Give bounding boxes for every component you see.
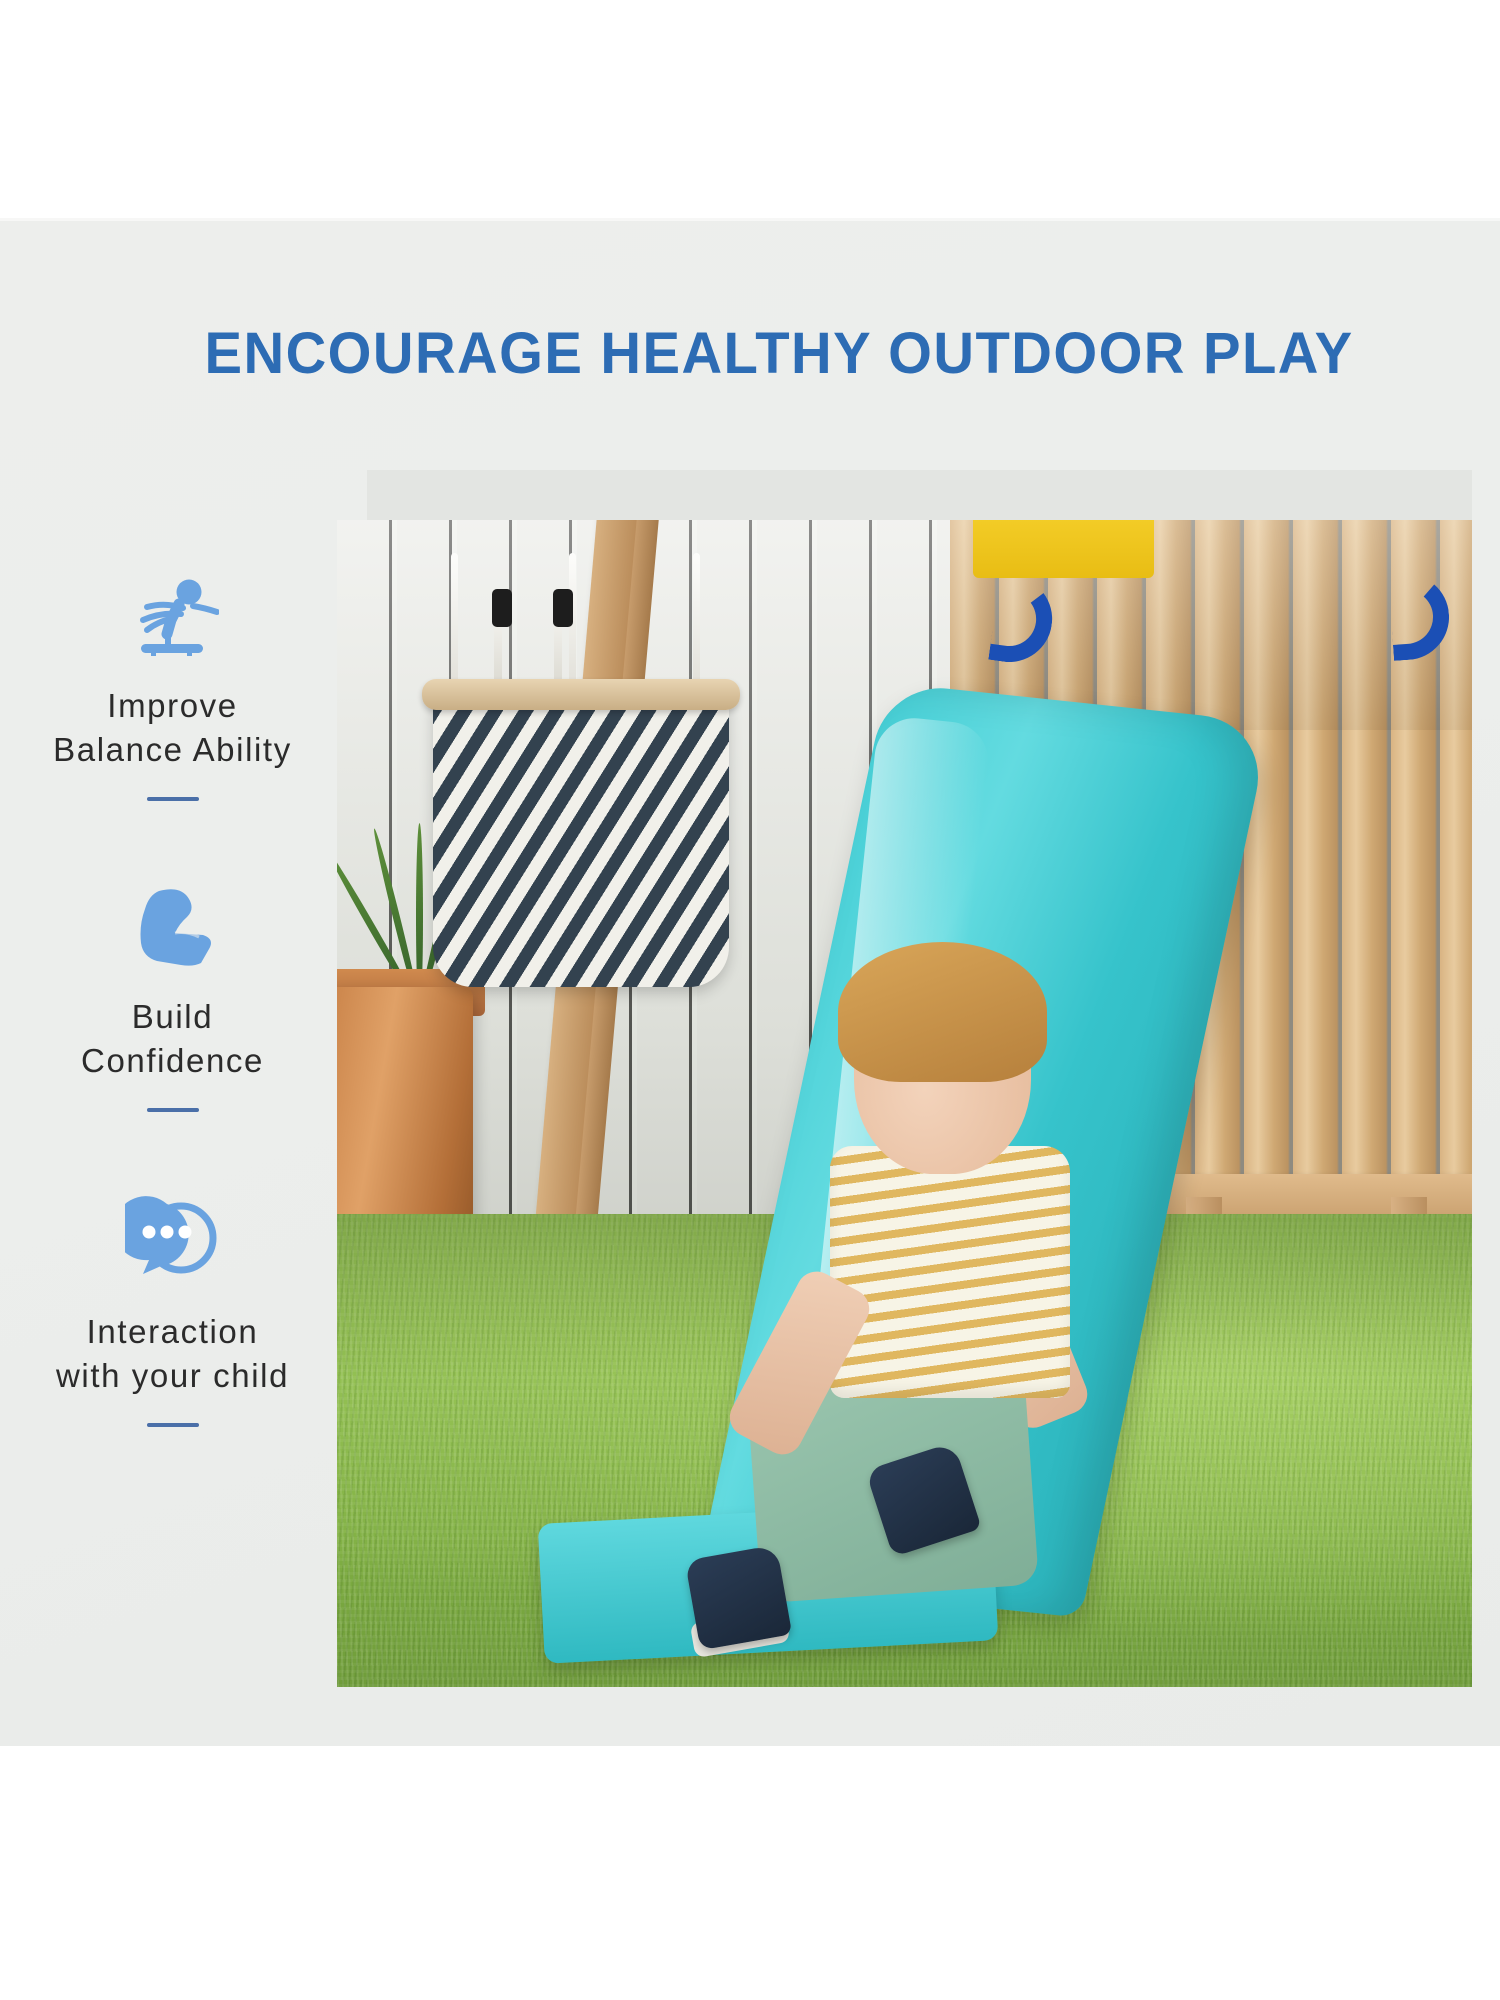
baby-swing-seat bbox=[433, 637, 728, 987]
product-lifestyle-photo bbox=[337, 520, 1472, 1687]
rope-clip bbox=[553, 589, 573, 627]
product-feature-banner: ENCOURAGE HEALTHY OUTDOOR PLAY bbox=[0, 0, 1500, 2000]
toddler-child bbox=[746, 963, 1132, 1663]
child-shoe bbox=[684, 1544, 791, 1650]
chevron-fabric-seat bbox=[433, 700, 728, 987]
flexed-bicep-icon bbox=[0, 871, 345, 967]
child-striped-shirt bbox=[830, 1146, 1069, 1398]
feature-item-confidence: Build Confidence bbox=[0, 871, 345, 1112]
feature-divider bbox=[147, 1108, 199, 1112]
yellow-roof bbox=[973, 520, 1155, 578]
feature-line-2: Confidence bbox=[0, 1039, 345, 1083]
feature-line-1: Improve bbox=[0, 684, 345, 728]
swing-wooden-bar bbox=[422, 679, 741, 711]
child-hair bbox=[838, 942, 1046, 1082]
feature-line-1: Build bbox=[0, 995, 345, 1039]
feature-list: Improve Balance Ability Build Confidence bbox=[0, 560, 345, 1491]
feature-line-1: Interaction bbox=[0, 1310, 345, 1354]
feature-label-balance: Improve Balance Ability bbox=[0, 684, 345, 771]
balance-figure-icon bbox=[0, 560, 345, 656]
page-title: ENCOURAGE HEALTHY OUTDOOR PLAY bbox=[23, 320, 1478, 387]
rope-clip bbox=[492, 589, 512, 627]
feature-line-2: with your child bbox=[0, 1354, 345, 1398]
feature-label-confidence: Build Confidence bbox=[0, 995, 345, 1082]
feature-divider bbox=[147, 1423, 199, 1427]
feature-label-interaction: Interaction with your child bbox=[0, 1310, 345, 1397]
feature-item-interaction: Interaction with your child bbox=[0, 1186, 345, 1427]
feature-divider bbox=[147, 797, 199, 801]
speech-bubbles-icon bbox=[0, 1186, 345, 1282]
feature-item-balance: Improve Balance Ability bbox=[0, 560, 345, 801]
feature-line-2: Balance Ability bbox=[0, 728, 345, 772]
